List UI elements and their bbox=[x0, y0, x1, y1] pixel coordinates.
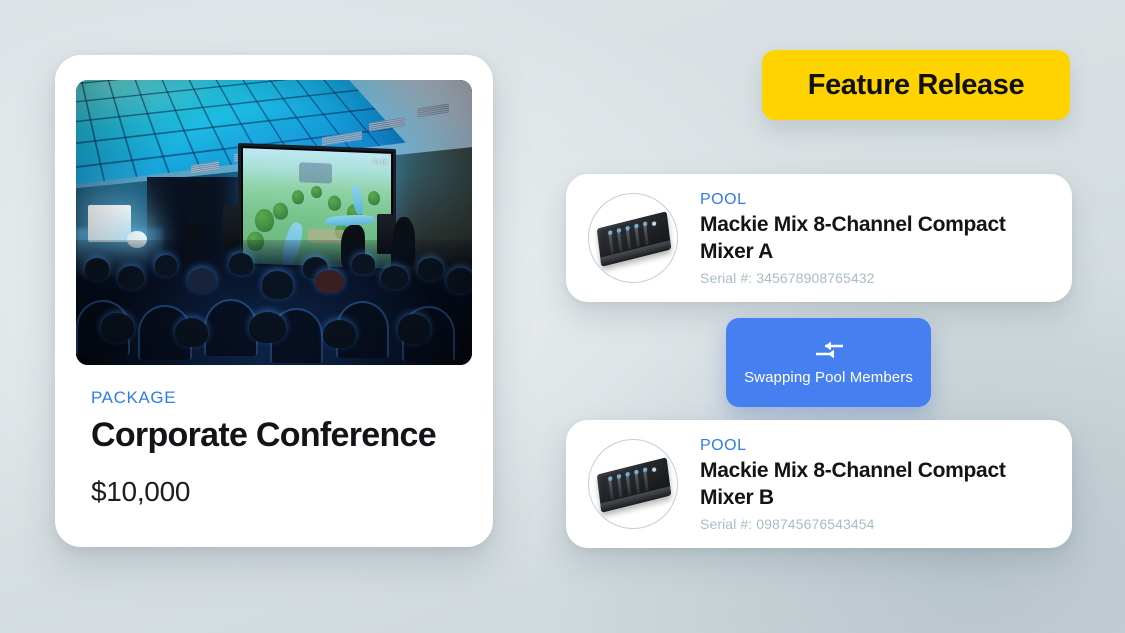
swap-button-label: Swapping Pool Members bbox=[744, 369, 913, 386]
swapping-pool-members-button[interactable]: Swapping Pool Members bbox=[726, 318, 931, 407]
pool-serial: Serial #: 345678908765432 bbox=[700, 270, 1050, 286]
package-photo: 6:39 bbox=[76, 80, 472, 365]
pool-serial: Serial #: 098745676543454 bbox=[700, 516, 1050, 532]
audience-crowd bbox=[76, 240, 472, 365]
pool-eyebrow: POOL bbox=[700, 436, 1050, 456]
screen-hud-timer: 6:39 bbox=[374, 159, 388, 166]
package-eyebrow: PACKAGE bbox=[91, 388, 473, 408]
package-title: Corporate Conference bbox=[91, 416, 473, 454]
audio-mixer-thumbnail bbox=[588, 193, 678, 283]
package-price: $10,000 bbox=[91, 476, 473, 508]
pool-title: Mackie Mix 8-Channel Compact Mixer A bbox=[700, 212, 1050, 266]
pool-eyebrow: POOL bbox=[700, 190, 1050, 210]
pool-card-b[interactable]: POOL Mackie Mix 8-Channel Compact Mixer … bbox=[566, 420, 1072, 548]
pool-card-a[interactable]: POOL Mackie Mix 8-Channel Compact Mixer … bbox=[566, 174, 1072, 302]
audio-mixer-thumbnail bbox=[588, 439, 678, 529]
feature-release-label: Feature Release bbox=[808, 69, 1024, 102]
pool-title: Mackie Mix 8-Channel Compact Mixer B bbox=[700, 458, 1050, 512]
package-card[interactable]: 6:39 bbox=[55, 55, 493, 547]
feature-release-badge: Feature Release bbox=[762, 50, 1070, 120]
swap-arrows-icon bbox=[812, 340, 846, 360]
